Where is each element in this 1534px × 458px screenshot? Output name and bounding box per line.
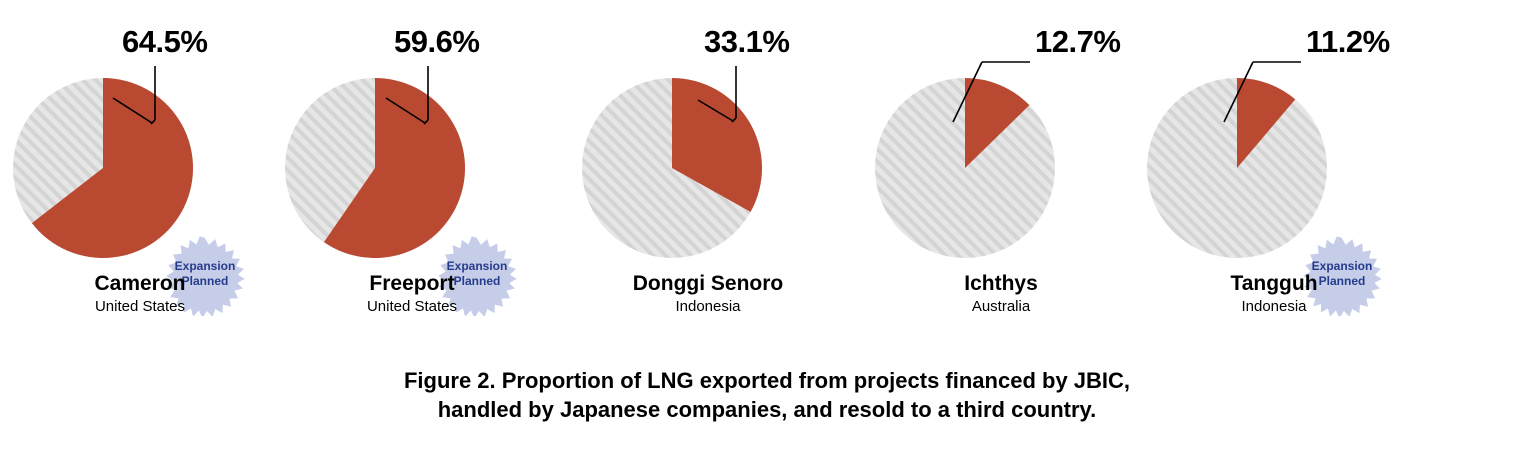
figure-caption: Figure 2. Proportion of LNG exported fro… [0,366,1534,424]
project-country-freeport: United States [272,298,552,317]
pie-labels-tangguh: Tangguh Indonesia [1134,272,1414,316]
project-name-donggi-senoro: Donggi Senoro [568,272,848,296]
pie-labels-donggi-senoro: Donggi Senoro Indonesia [568,272,848,316]
pie-chart-donggi-senoro: 33.1% Donggi Senoro Indonesia [560,0,840,340]
project-name-tangguh: Tangguh [1134,272,1414,296]
project-name-cameron: Cameron [0,272,280,296]
project-country-tangguh: Indonesia [1134,298,1414,317]
pie-labels-cameron: Cameron United States [0,272,280,316]
caption-line-1: Figure 2. Proportion of LNG exported fro… [0,366,1534,395]
pie-chart-cameron: 64.5% Expansion [0,0,280,340]
figure-container: 64.5% Expansion [0,0,1534,458]
pie-chart-ichthys: 12.7% Ichthys Australia [840,0,1120,340]
pie-labels-freeport: Freeport United States [272,272,552,316]
project-country-cameron: United States [0,298,280,317]
project-name-ichthys: Ichthys [861,272,1141,296]
caption-line-2: handled by Japanese companies, and resol… [0,395,1534,424]
project-country-ichthys: Australia [861,298,1141,317]
project-country-donggi-senoro: Indonesia [568,298,848,317]
pie-labels-ichthys: Ichthys Australia [861,272,1141,316]
pie-chart-tangguh: 11.2% Expansion [1120,0,1400,340]
pie-charts-row: 64.5% Expansion [0,0,1534,340]
project-name-freeport: Freeport [272,272,552,296]
pie-chart-freeport: 59.6% Expansion [280,0,560,340]
